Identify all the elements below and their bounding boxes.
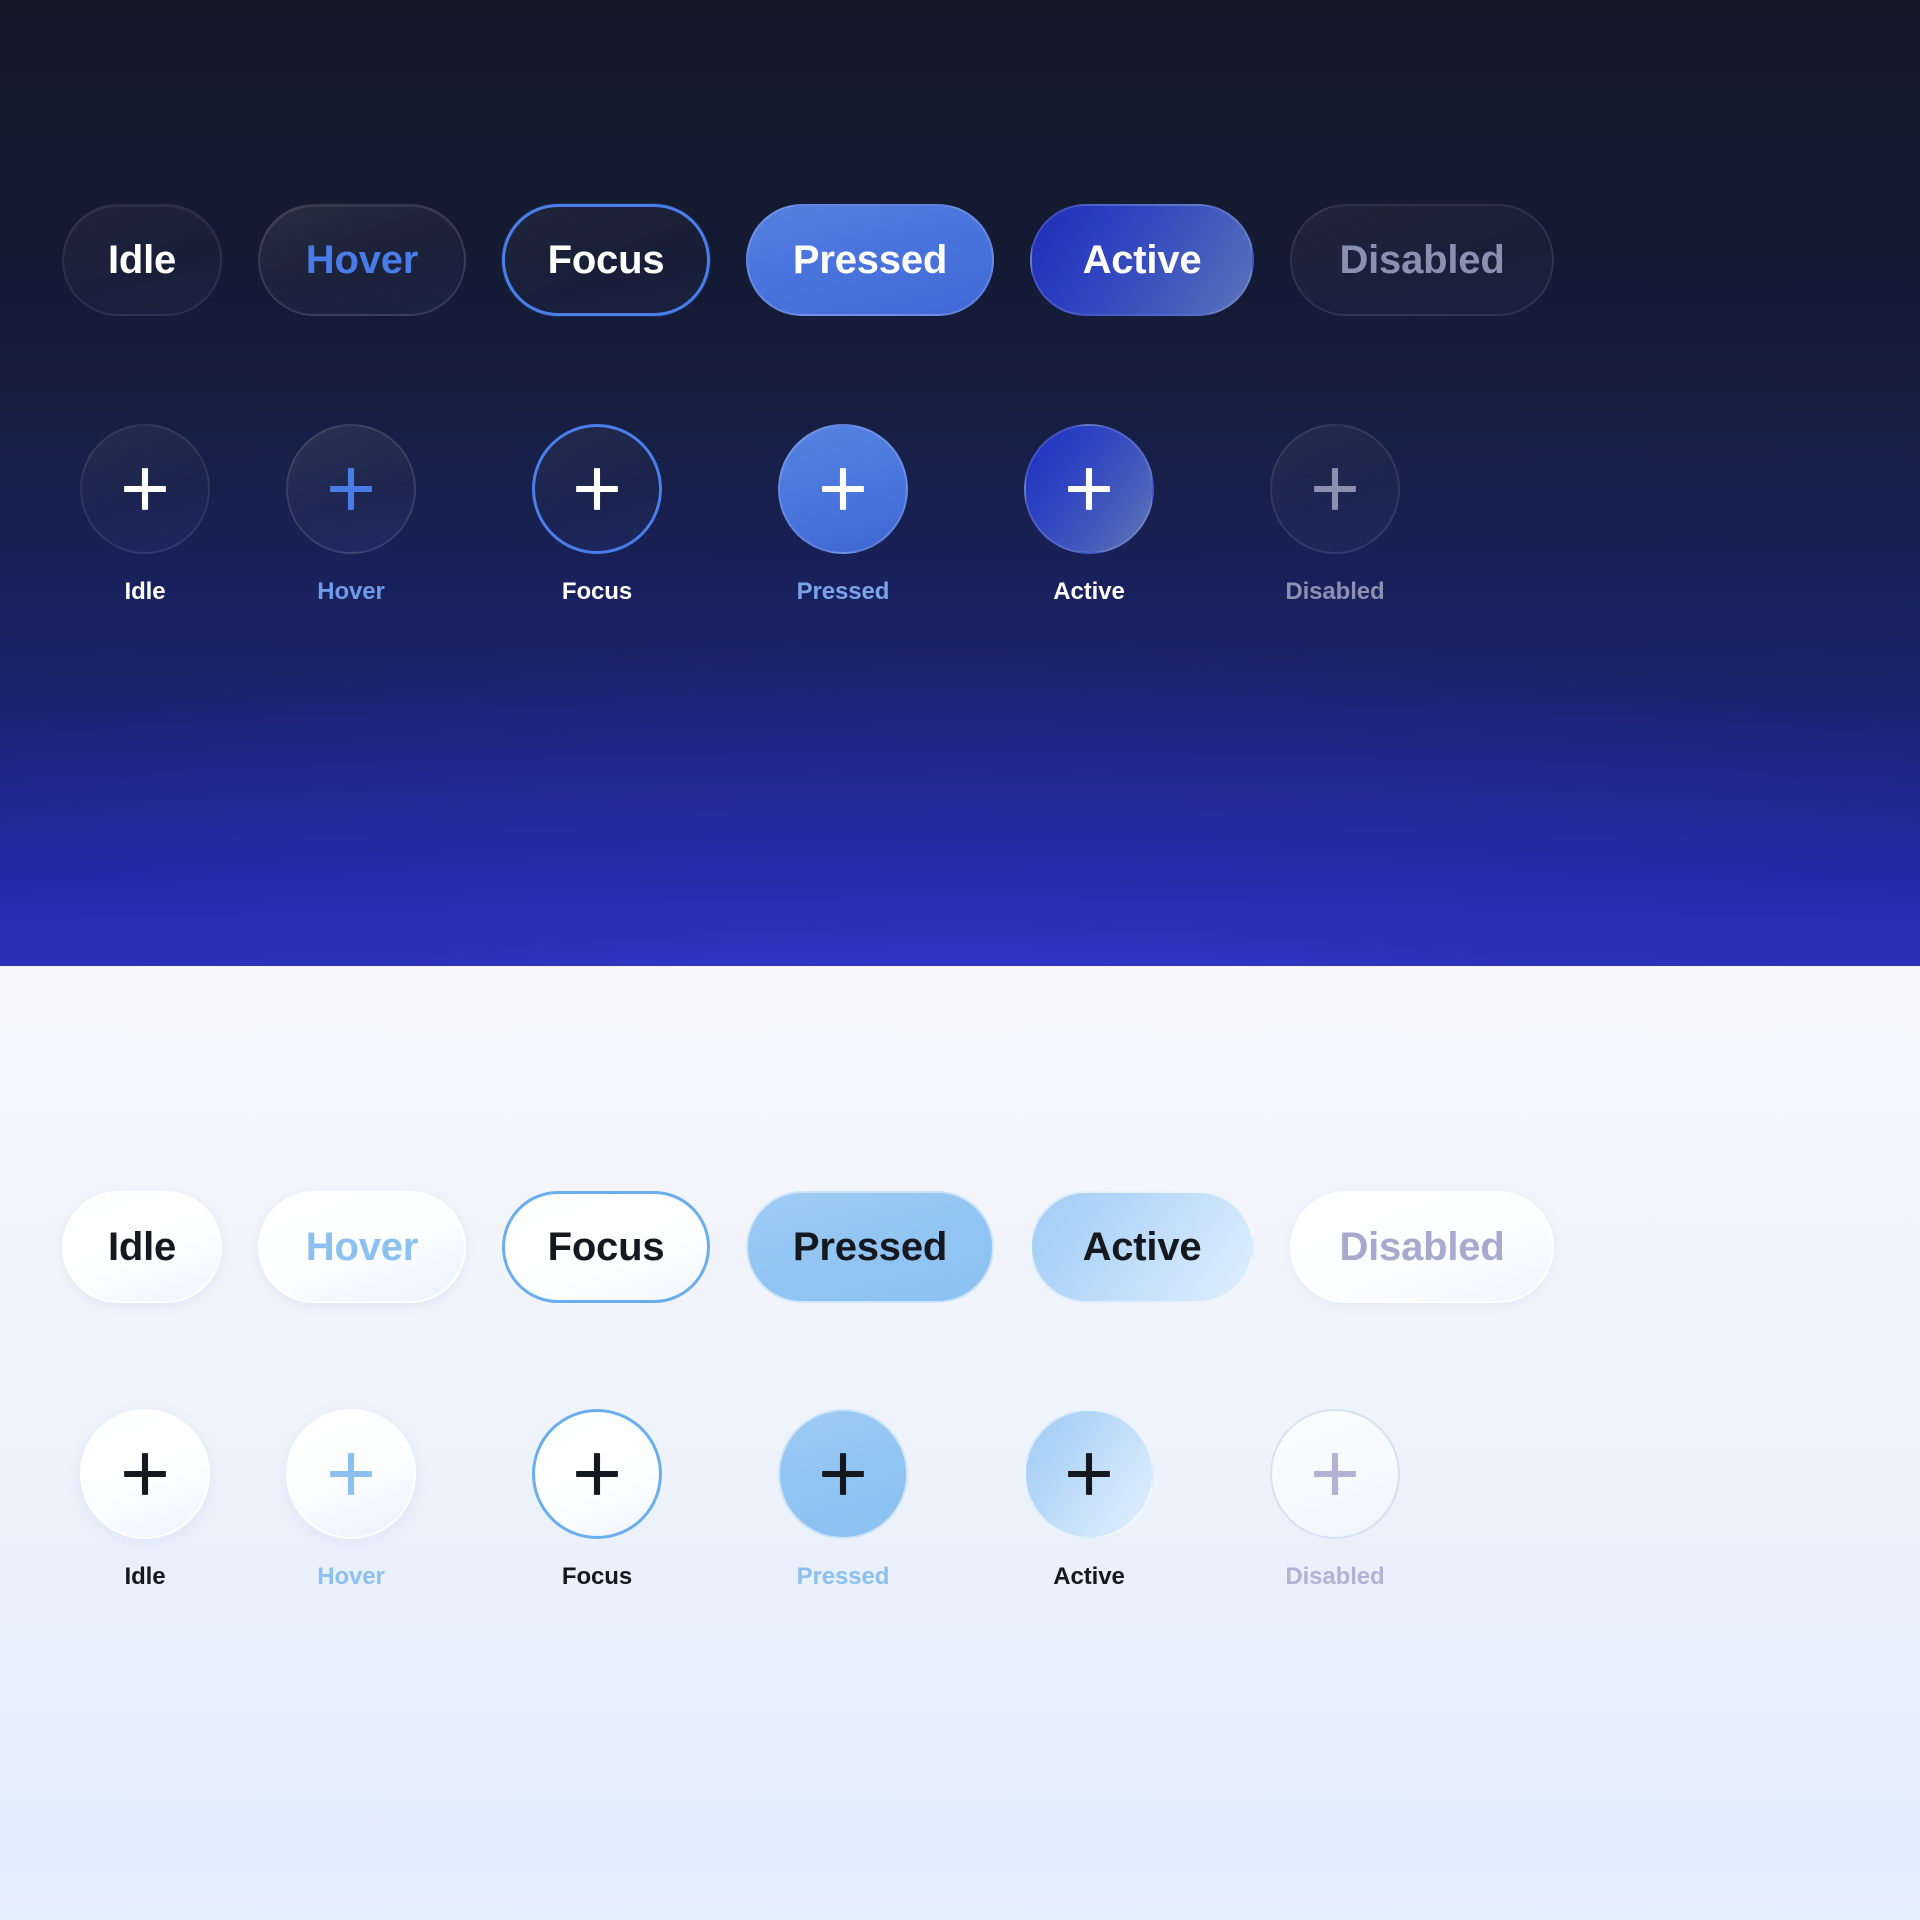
- pill-button-disabled: Disabled: [1290, 1191, 1554, 1303]
- icon-button-focus[interactable]: [532, 1409, 662, 1539]
- plus-icon: [814, 1445, 872, 1503]
- icon-button-disabled: [1270, 424, 1400, 554]
- light-icon-button-row: IdleHoverFocusPressedActiveDisabled: [0, 1303, 1920, 1591]
- icon-button-label: Pressed: [797, 578, 890, 606]
- icon-button-focus[interactable]: [532, 424, 662, 554]
- icon-button-label: Pressed: [797, 1563, 890, 1591]
- pill-button-pressed[interactable]: Pressed: [746, 204, 994, 316]
- icon-button-hover[interactable]: [286, 1409, 416, 1539]
- plus-icon: [568, 1445, 626, 1503]
- button-state-showcase: IdleHoverFocusPressedActiveDisabled Idle…: [0, 0, 1920, 1920]
- pill-button-focus[interactable]: Focus: [502, 204, 710, 316]
- pill-button-label: Idle: [108, 1225, 176, 1270]
- pill-button-label: Hover: [306, 1225, 418, 1270]
- icon-button-cell-focus: Focus: [474, 1409, 720, 1591]
- plus-icon: [116, 460, 174, 518]
- pill-button-label: Active: [1083, 1225, 1202, 1270]
- icon-button-cell-pressed: Pressed: [720, 424, 966, 606]
- pill-button-focus[interactable]: Focus: [502, 1191, 710, 1303]
- pill-button-hover[interactable]: Hover: [258, 204, 466, 316]
- icon-button-label: Focus: [562, 1563, 632, 1591]
- icon-button-idle[interactable]: [80, 1409, 210, 1539]
- dark-pill-button-row: IdleHoverFocusPressedActiveDisabled: [0, 0, 1920, 316]
- pill-button-active[interactable]: Active: [1030, 1191, 1254, 1303]
- icon-button-disabled: [1270, 1409, 1400, 1539]
- icon-button-label: Focus: [562, 578, 632, 606]
- pill-button-label: Focus: [548, 238, 665, 283]
- pill-button-idle[interactable]: Idle: [62, 204, 222, 316]
- pill-button-label: Focus: [548, 1225, 665, 1270]
- pill-button-label: Disabled: [1339, 238, 1504, 283]
- pill-button-pressed[interactable]: Pressed: [746, 1191, 994, 1303]
- icon-button-cell-active: Active: [966, 424, 1212, 606]
- icon-button-label: Disabled: [1285, 578, 1384, 606]
- plus-icon: [322, 1445, 380, 1503]
- plus-icon: [322, 460, 380, 518]
- pill-button-label: Active: [1083, 238, 1202, 283]
- pill-button-active[interactable]: Active: [1030, 204, 1254, 316]
- pill-button-idle[interactable]: Idle: [62, 1191, 222, 1303]
- icon-button-label: Active: [1053, 578, 1124, 606]
- icon-button-label: Disabled: [1285, 1563, 1384, 1591]
- plus-icon: [814, 460, 872, 518]
- plus-icon: [1060, 460, 1118, 518]
- icon-button-label: Hover: [317, 1563, 385, 1591]
- icon-button-pressed[interactable]: [778, 1409, 908, 1539]
- icon-button-idle[interactable]: [80, 424, 210, 554]
- dark-icon-button-row: IdleHoverFocusPressedActiveDisabled: [0, 316, 1920, 606]
- icon-button-cell-disabled: Disabled: [1212, 1409, 1458, 1591]
- light-pill-button-row: IdleHoverFocusPressedActiveDisabled: [0, 966, 1920, 1303]
- icon-button-label: Active: [1053, 1563, 1124, 1591]
- plus-icon: [116, 1445, 174, 1503]
- dark-theme-section: IdleHoverFocusPressedActiveDisabled Idle…: [0, 0, 1920, 966]
- icon-button-hover[interactable]: [286, 424, 416, 554]
- icon-button-cell-hover: Hover: [228, 424, 474, 606]
- pill-button-hover[interactable]: Hover: [258, 1191, 466, 1303]
- plus-icon: [568, 460, 626, 518]
- icon-button-cell-idle: Idle: [62, 424, 228, 606]
- pill-button-label: Idle: [108, 238, 176, 283]
- pill-button-label: Pressed: [793, 238, 947, 283]
- icon-button-cell-active: Active: [966, 1409, 1212, 1591]
- icon-button-cell-hover: Hover: [228, 1409, 474, 1591]
- icon-button-cell-idle: Idle: [62, 1409, 228, 1591]
- icon-button-cell-disabled: Disabled: [1212, 424, 1458, 606]
- icon-button-label: Hover: [317, 578, 385, 606]
- icon-button-cell-pressed: Pressed: [720, 1409, 966, 1591]
- pill-button-label: Pressed: [793, 1225, 947, 1270]
- icon-button-cell-focus: Focus: [474, 424, 720, 606]
- light-theme-section: IdleHoverFocusPressedActiveDisabled Idle…: [0, 966, 1920, 1920]
- pill-button-disabled: Disabled: [1290, 204, 1554, 316]
- icon-button-active[interactable]: [1024, 1409, 1154, 1539]
- icon-button-pressed[interactable]: [778, 424, 908, 554]
- icon-button-label: Idle: [125, 1563, 166, 1591]
- icon-button-label: Idle: [125, 578, 166, 606]
- plus-icon: [1306, 460, 1364, 518]
- pill-button-label: Hover: [306, 238, 418, 283]
- pill-button-label: Disabled: [1339, 1225, 1504, 1270]
- plus-icon: [1306, 1445, 1364, 1503]
- plus-icon: [1060, 1445, 1118, 1503]
- icon-button-active[interactable]: [1024, 424, 1154, 554]
